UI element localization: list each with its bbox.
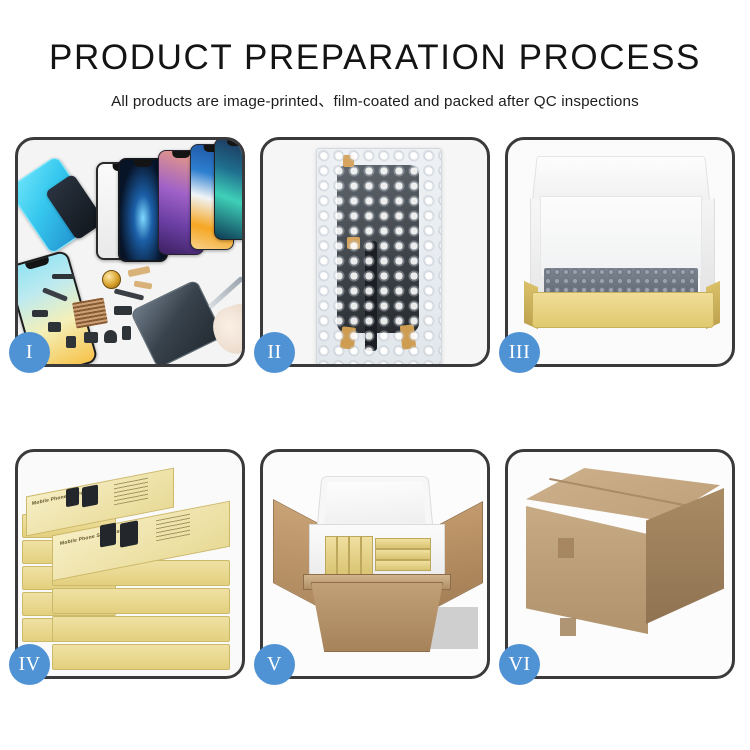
stacked-box bbox=[52, 616, 230, 642]
chip-board-part bbox=[72, 297, 108, 328]
step-1-panel bbox=[15, 137, 245, 367]
step-badge: II bbox=[254, 332, 295, 373]
notch-icon bbox=[172, 151, 190, 158]
tape-seal bbox=[558, 538, 574, 558]
yellow-box-inside bbox=[375, 538, 431, 549]
carton-front-face bbox=[526, 506, 648, 634]
tape-seal bbox=[560, 618, 576, 636]
process-step-1[interactable]: I bbox=[15, 137, 245, 367]
process-grid: I II bbox=[15, 137, 735, 679]
step-2-panel bbox=[260, 137, 490, 367]
small-part bbox=[48, 322, 61, 332]
small-part bbox=[66, 336, 76, 348]
bubble-wrap-bag bbox=[316, 148, 442, 366]
step-5-image bbox=[263, 452, 487, 676]
stacked-box bbox=[52, 588, 230, 614]
small-part bbox=[84, 332, 98, 343]
label-phone-image bbox=[100, 522, 116, 547]
small-part bbox=[52, 274, 74, 279]
tape-piece bbox=[343, 155, 354, 167]
flex-cable bbox=[128, 266, 151, 277]
step-4-panel: Mobile Phone Spare Parts Mobile Phone Sp… bbox=[15, 449, 245, 679]
yellow-box-inside bbox=[375, 549, 431, 560]
technician-hand bbox=[208, 301, 245, 360]
flex-cable bbox=[134, 280, 153, 289]
step-badge: III bbox=[499, 332, 540, 373]
page-subtitle: All products are image-printed、film-coat… bbox=[0, 89, 750, 111]
step-4-image: Mobile Phone Spare Parts Mobile Phone Sp… bbox=[18, 452, 242, 676]
small-part bbox=[122, 326, 131, 340]
yellow-box-inside bbox=[375, 560, 431, 571]
label-phone-image bbox=[120, 520, 138, 547]
small-part bbox=[114, 306, 132, 315]
step-2-image bbox=[263, 140, 487, 364]
tape-piece bbox=[340, 326, 356, 349]
process-step-3[interactable]: III bbox=[505, 137, 735, 367]
tape-piece bbox=[400, 324, 416, 349]
process-step-2[interactable]: II bbox=[260, 137, 490, 367]
notch-icon bbox=[227, 139, 243, 146]
yellow-box-inside bbox=[349, 536, 361, 576]
step-badge: VI bbox=[499, 644, 540, 685]
step-5-panel bbox=[260, 449, 490, 679]
notch-icon bbox=[25, 257, 50, 270]
step-badge: IV bbox=[9, 644, 50, 685]
foam-case-lid bbox=[316, 476, 433, 530]
flex-cable bbox=[114, 288, 144, 300]
step-6-panel bbox=[505, 449, 735, 679]
box-front-panel bbox=[532, 292, 714, 328]
tape-piece bbox=[347, 237, 360, 249]
foam-sheet bbox=[540, 196, 702, 278]
small-part bbox=[32, 310, 48, 317]
step-6-image bbox=[508, 452, 732, 676]
process-step-6[interactable]: VI bbox=[505, 449, 735, 679]
process-step-4[interactable]: Mobile Phone Spare Parts Mobile Phone Sp… bbox=[15, 449, 245, 679]
step-badge: V bbox=[254, 644, 295, 685]
yellow-box-inside bbox=[337, 536, 349, 576]
step-badge: I bbox=[9, 332, 50, 373]
header: PRODUCT PREPARATION PROCESS All products… bbox=[0, 0, 750, 111]
box-stack: Mobile Phone Spare Parts Mobile Phone Sp… bbox=[22, 468, 245, 674]
stacked-box bbox=[52, 644, 230, 670]
label-phone-image bbox=[66, 487, 79, 508]
wrapped-screen-assembly bbox=[337, 165, 419, 333]
screen-flex-cable bbox=[365, 241, 377, 351]
small-part bbox=[104, 330, 117, 343]
yellow-box-inside bbox=[361, 536, 373, 576]
vibration-motor-part bbox=[102, 270, 121, 289]
infographic-page: PRODUCT PREPARATION PROCESS All products… bbox=[0, 0, 750, 750]
phone-back-housing bbox=[130, 279, 225, 367]
process-step-5[interactable]: V bbox=[260, 449, 490, 679]
phone-teal-wallpaper bbox=[214, 138, 245, 240]
page-title: PRODUCT PREPARATION PROCESS bbox=[0, 40, 750, 75]
step-1-image bbox=[18, 140, 242, 364]
notch-icon bbox=[134, 160, 152, 167]
carton-body bbox=[311, 582, 443, 652]
label-phone-image bbox=[82, 484, 98, 507]
step-3-image bbox=[508, 140, 732, 364]
step-3-panel bbox=[505, 137, 735, 367]
yellow-box-inside bbox=[325, 536, 337, 576]
